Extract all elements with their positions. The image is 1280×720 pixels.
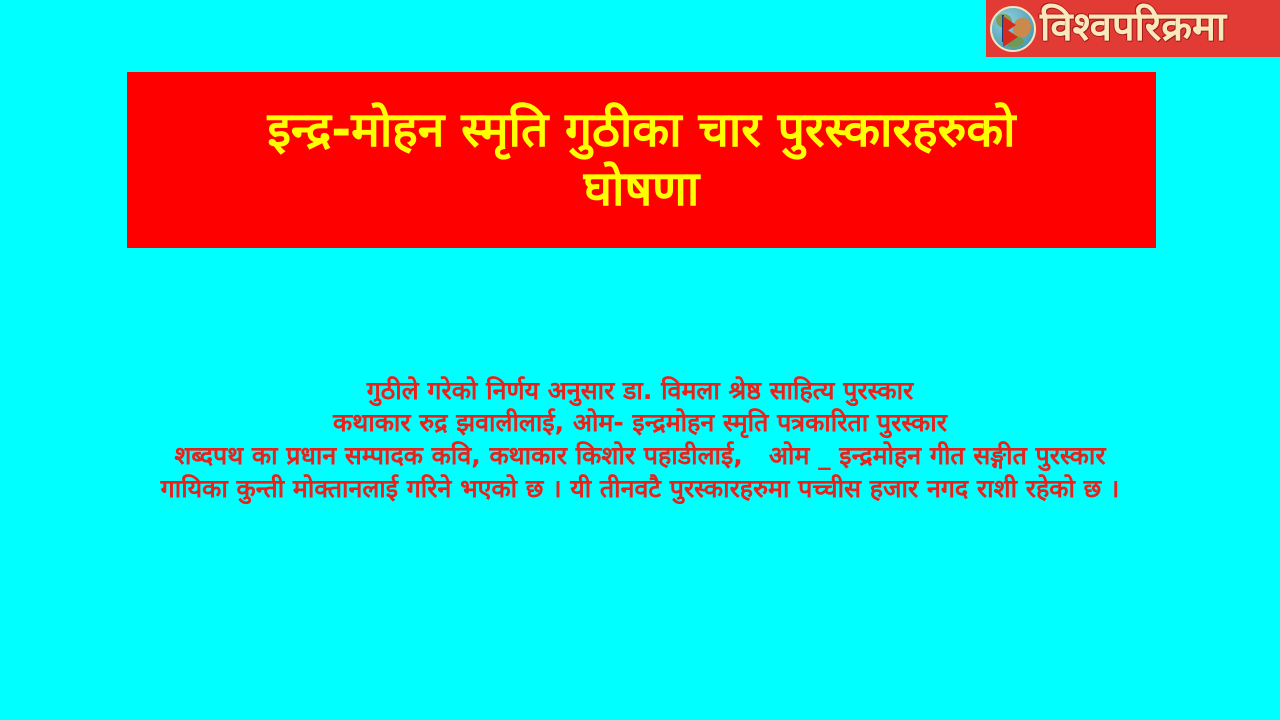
news-slide: विश्वपरिक्रमा इन्द्र-मोहन स्मृति गुठीका … — [0, 0, 1280, 720]
headline-title: इन्द्र-मोहन स्मृति गुठीका चार पुरस्कारहर… — [267, 101, 1015, 218]
body-line: कथाकार रुद्र झवालीलाई, ओम- इन्द्रमोहन स्… — [0, 407, 1280, 439]
headline-banner: इन्द्र-मोहन स्मृति गुठीका चार पुरस्कारहर… — [127, 72, 1156, 248]
globe-emblem-icon — [990, 6, 1036, 52]
channel-wordmark: विश्वपरिक्रमा — [1036, 7, 1280, 51]
body-line: शब्दपथ का प्रधान सम्पादक कवि, कथाकार किश… — [0, 439, 1280, 472]
body-line: गुठीले गरेको निर्णय अनुसार डा. विमला श्र… — [0, 375, 1280, 407]
channel-logo-bar: विश्वपरिक्रमा — [986, 0, 1280, 57]
nepal-flag-lower-pennant-icon — [1003, 27, 1018, 47]
body-line: गायिका कुन्ती मोक्तानलाई गरिने भएको छ । … — [0, 472, 1280, 505]
body-paragraph: गुठीले गरेको निर्णय अनुसार डा. विमला श्र… — [0, 375, 1280, 505]
